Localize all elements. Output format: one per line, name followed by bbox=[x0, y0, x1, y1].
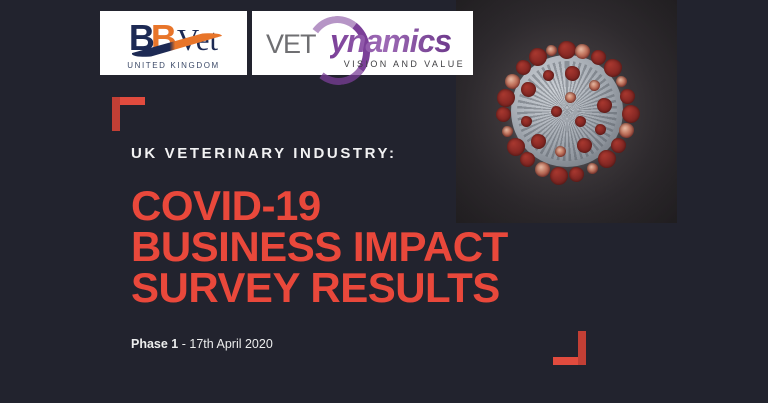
bbvet-logo: B B Vet UNITED KINGDOM bbox=[100, 11, 247, 75]
bracket-arm-vertical bbox=[112, 97, 120, 131]
corner-bracket-bottom-right-icon bbox=[553, 331, 586, 365]
vetdynamics-tagline: VISION AND VALUE bbox=[344, 59, 465, 69]
phase-label: Phase 1 bbox=[131, 337, 178, 351]
bbvet-wordmark: Vet bbox=[177, 24, 218, 55]
bbvet-mark-second: B bbox=[151, 20, 175, 56]
title-line-1: COVID-19 bbox=[131, 185, 508, 226]
slide-eyebrow: UK VETERINARY INDUSTRY: bbox=[131, 145, 397, 162]
bbvet-wordmark-row: B B Vet bbox=[129, 20, 218, 56]
slide-title: COVID-19 BUSINESS IMPACT SURVEY RESULTS bbox=[131, 185, 508, 308]
vetdynamics-wordmark: ynamics bbox=[330, 23, 451, 60]
bracket-arm-vertical bbox=[578, 331, 586, 365]
bbvet-mark-first: B bbox=[129, 20, 153, 56]
corner-bracket-top-left-icon bbox=[112, 97, 145, 131]
title-line-3: SURVEY RESULTS bbox=[131, 267, 508, 308]
presentation-slide: B B Vet UNITED KINGDOM VET ynamics VISIO… bbox=[0, 0, 768, 403]
bbvet-tagline: UNITED KINGDOM bbox=[127, 61, 220, 70]
phase-date: - 17th April 2020 bbox=[178, 337, 273, 351]
title-line-2: BUSINESS IMPACT bbox=[131, 226, 508, 267]
slide-phase-date: Phase 1 - 17th April 2020 bbox=[131, 337, 273, 351]
vetdynamics-wordmark-row: VET ynamics VISION AND VALUE bbox=[252, 11, 473, 75]
vetdynamics-logo: VET ynamics VISION AND VALUE bbox=[252, 11, 473, 75]
